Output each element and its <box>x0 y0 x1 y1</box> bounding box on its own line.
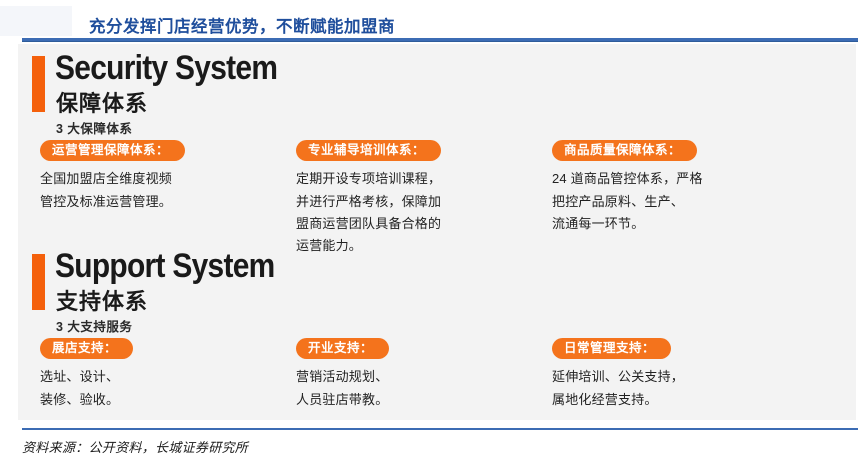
column-body-text: 选址、设计、 装修、验收。 <box>40 366 262 411</box>
column-pill-label: 专业辅导培训体系： <box>296 140 441 161</box>
column-item: 日常管理支持： 延伸培训、公关支持， 属地化经营支持。 <box>552 338 788 411</box>
section-headline: Support System 支持体系 3 大支持服务 <box>18 252 856 314</box>
orange-accent-bar-icon <box>32 254 45 310</box>
source-note: 资料来源：公开资料，长城证券研究所 <box>22 437 248 456</box>
column-pill-label: 展店支持： <box>40 338 133 359</box>
slide-content-panel: Security System 保障体系 3 大保障体系 运营管理保障体系： 全… <box>18 44 856 420</box>
section-headline: Security System 保障体系 3 大保障体系 <box>18 54 856 116</box>
section-title-cn: 保障体系 <box>56 86 148 118</box>
orange-accent-bar-icon <box>32 56 45 112</box>
header-corner-block <box>0 6 72 36</box>
column-body-text: 定期开设专项培训课程， 并进行严格考核，保障加 盟商运营团队具备合格的 运营能力… <box>296 168 518 257</box>
page-title: 充分发挥门店经营优势，不断赋能加盟商 <box>89 13 395 37</box>
column-item: 专业辅导培训体系： 定期开设专项培训课程， 并进行严格考核，保障加 盟商运营团队… <box>296 140 532 258</box>
section-subtitle: 3 大保障体系 <box>56 118 132 137</box>
column-item: 开业支持： 营销活动规划、 人员驻店带教。 <box>296 338 532 411</box>
column-pill-label: 商品质量保障体系： <box>552 140 697 161</box>
section-title-en: Support System <box>55 247 275 286</box>
column-body-text: 全国加盟店全维度视频 管控及标准运营管理。 <box>40 168 262 213</box>
section-security-system: Security System 保障体系 3 大保障体系 运营管理保障体系： 全… <box>18 54 856 116</box>
column-pill-label: 日常管理支持： <box>552 338 671 359</box>
column-item: 商品质量保障体系： 24 道商品管控体系，严格 把控产品原料、生产、 流通每一环… <box>552 140 788 258</box>
section-title-cn: 支持体系 <box>56 284 148 316</box>
section-support-system: Support System 支持体系 3 大支持服务 展店支持： 选址、设计、… <box>18 252 856 314</box>
section-subtitle: 3 大支持服务 <box>56 316 132 335</box>
column-pill-label: 运营管理保障体系： <box>40 140 185 161</box>
column-body-text: 营销活动规划、 人员驻店带教。 <box>296 366 518 411</box>
column-body-text: 24 道商品管控体系，严格 把控产品原料、生产、 流通每一环节。 <box>552 168 774 235</box>
section-columns: 展店支持： 选址、设计、 装修、验收。 开业支持： 营销活动规划、 人员驻店带教… <box>18 338 856 411</box>
title-divider <box>22 38 858 42</box>
footer-divider <box>22 428 858 430</box>
section-title-en: Security System <box>55 49 277 88</box>
slide-header: 充分发挥门店经营优势，不断赋能加盟商 <box>0 0 864 44</box>
column-pill-label: 开业支持： <box>296 338 389 359</box>
section-columns: 运营管理保障体系： 全国加盟店全维度视频 管控及标准运营管理。 专业辅导培训体系… <box>18 140 856 258</box>
column-item: 展店支持： 选址、设计、 装修、验收。 <box>40 338 276 411</box>
column-body-text: 延伸培训、公关支持， 属地化经营支持。 <box>552 366 774 411</box>
column-item: 运营管理保障体系： 全国加盟店全维度视频 管控及标准运营管理。 <box>40 140 276 258</box>
